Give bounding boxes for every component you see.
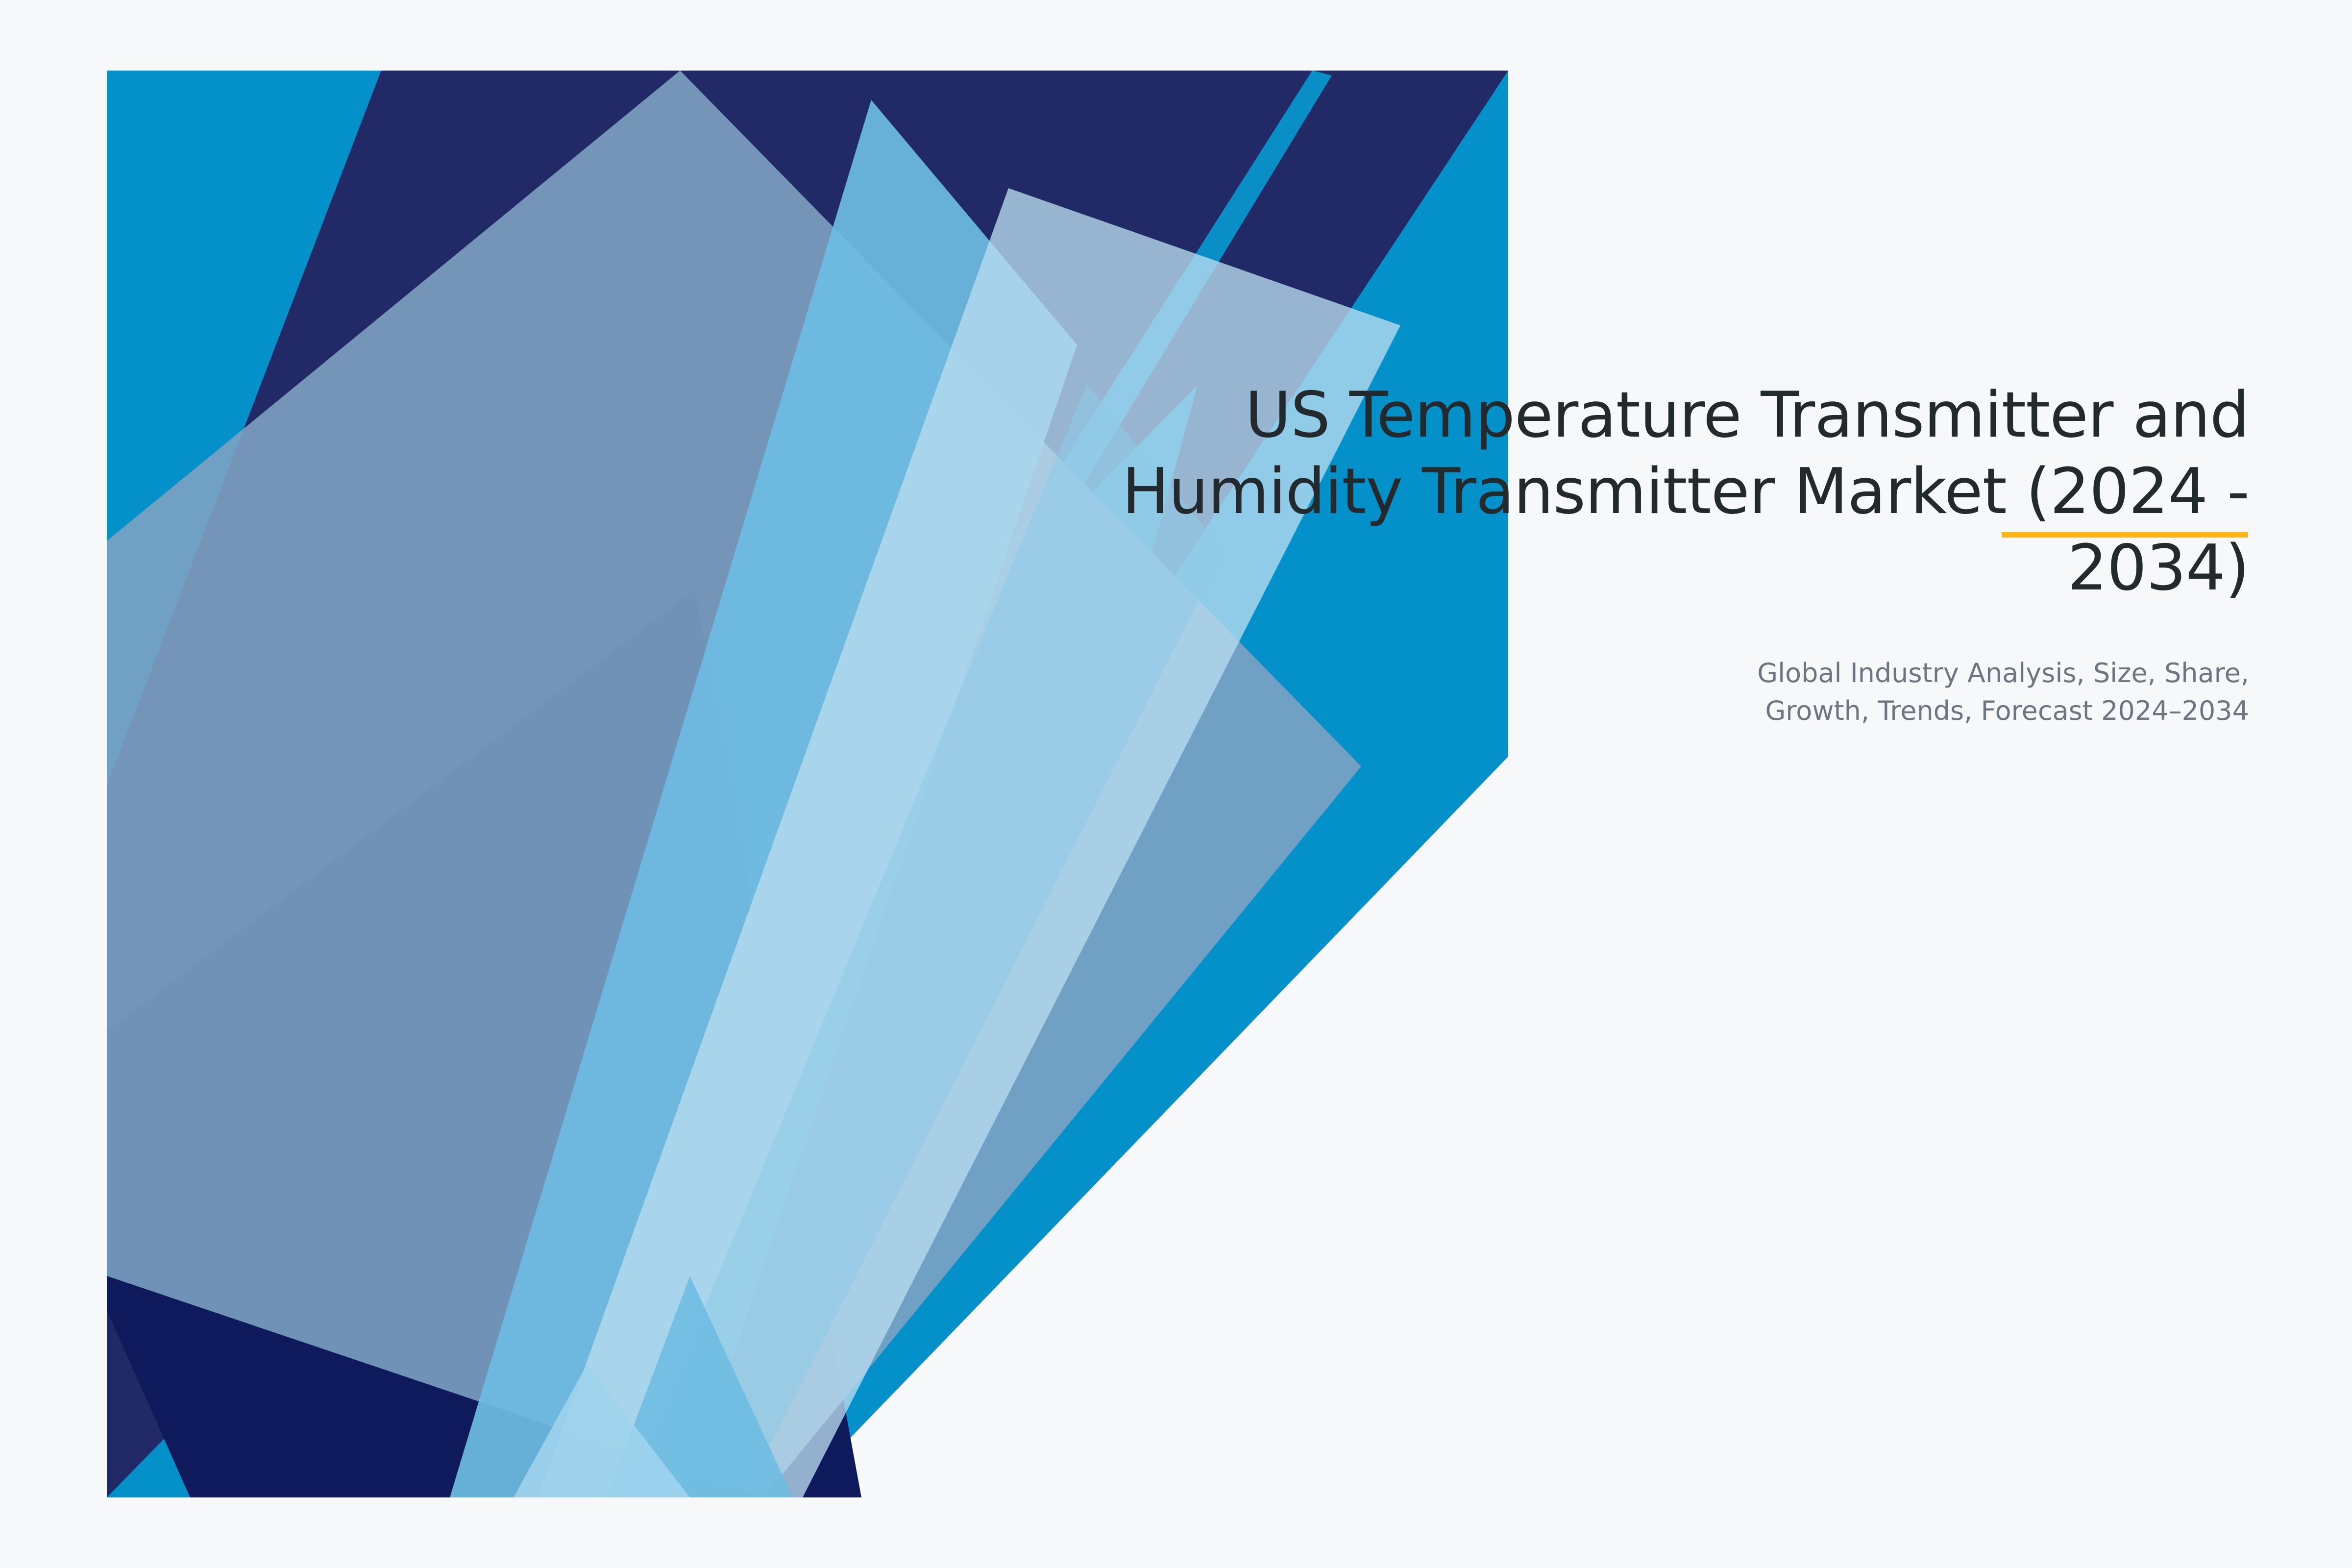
title-block: US Temperature Transmitter and Humidity … — [735, 377, 2249, 607]
abstract-geometric-cover-graphic — [107, 71, 1508, 1497]
page-subtitle: Global Industry Analysis, Size, Share, G… — [735, 655, 2249, 730]
cover-page: US Temperature Transmitter and Humidity … — [0, 0, 2352, 1568]
page-title: US Temperature Transmitter and Humidity … — [735, 377, 2249, 607]
title-underline-accent — [2002, 532, 2248, 538]
